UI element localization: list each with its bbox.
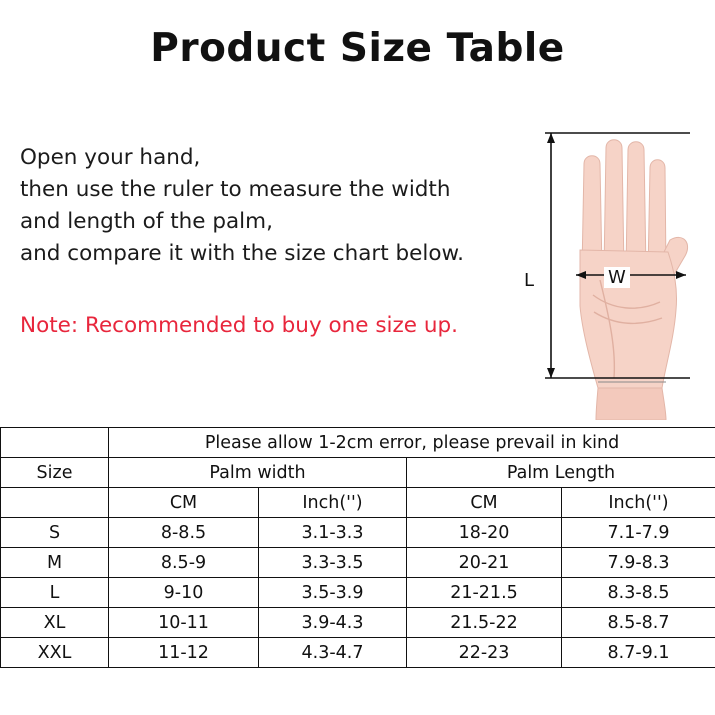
cell-width-cm: 8.5-9 bbox=[109, 548, 259, 578]
cell-length-inch: 8.5-8.7 bbox=[562, 608, 715, 638]
cell-size: S bbox=[1, 518, 109, 548]
unit-header-spacer bbox=[1, 488, 109, 518]
hand-measurement-diagram: W L bbox=[520, 120, 710, 420]
cell-length-cm: 21-21.5 bbox=[407, 578, 562, 608]
cell-length-cm: 21.5-22 bbox=[407, 608, 562, 638]
cell-length-cm: 18-20 bbox=[407, 518, 562, 548]
width-label: W bbox=[604, 267, 630, 288]
header-size: Size bbox=[1, 458, 109, 488]
cell-length-cm: 22-23 bbox=[407, 638, 562, 668]
cell-length-inch: 7.1-7.9 bbox=[562, 518, 715, 548]
cell-width-inch: 3.9-4.3 bbox=[259, 608, 407, 638]
cell-width-cm: 8-8.5 bbox=[109, 518, 259, 548]
cell-length-inch: 8.7-9.1 bbox=[562, 638, 715, 668]
cell-size: L bbox=[1, 578, 109, 608]
instruction-line-3: and length of the palm, bbox=[20, 206, 520, 238]
cell-size: XXL bbox=[1, 638, 109, 668]
note-text: Note: Recommended to buy one size up. bbox=[20, 313, 458, 338]
instructions-block: Open your hand, then use the ruler to me… bbox=[20, 142, 520, 270]
header-palm-length: Palm Length bbox=[407, 458, 715, 488]
length-label: L bbox=[520, 270, 538, 291]
cell-size: M bbox=[1, 548, 109, 578]
table-row: M 8.5-9 3.3-3.5 20-21 7.9-8.3 bbox=[1, 548, 715, 578]
header-length-cm: CM bbox=[407, 488, 562, 518]
cell-width-inch: 3.3-3.5 bbox=[259, 548, 407, 578]
cell-size: XL bbox=[1, 608, 109, 638]
table-banner-row: Please allow 1-2cm error, please prevail… bbox=[1, 428, 715, 458]
cell-width-cm: 10-11 bbox=[109, 608, 259, 638]
table-row: XXL 11-12 4.3-4.7 22-23 8.7-9.1 bbox=[1, 638, 715, 668]
cell-width-inch: 3.5-3.9 bbox=[259, 578, 407, 608]
page-title: Product Size Table bbox=[0, 26, 715, 71]
header-length-inch: Inch('') bbox=[562, 488, 715, 518]
size-chart-table: Please allow 1-2cm error, please prevail… bbox=[0, 427, 715, 668]
cell-length-inch: 8.3-8.5 bbox=[562, 578, 715, 608]
header-palm-width: Palm width bbox=[109, 458, 407, 488]
instruction-line-4: and compare it with the size chart below… bbox=[20, 238, 520, 270]
cell-width-cm: 11-12 bbox=[109, 638, 259, 668]
banner-spacer bbox=[1, 428, 109, 458]
table-group-header-row: Size Palm width Palm Length bbox=[1, 458, 715, 488]
cell-width-inch: 3.1-3.3 bbox=[259, 518, 407, 548]
table-unit-header-row: CM Inch('') CM Inch('') bbox=[1, 488, 715, 518]
product-size-table-page: Product Size Table Open your hand, then … bbox=[0, 0, 715, 715]
table-row: S 8-8.5 3.1-3.3 18-20 7.1-7.9 bbox=[1, 518, 715, 548]
instruction-line-2: then use the ruler to measure the width bbox=[20, 174, 520, 206]
cell-width-inch: 4.3-4.7 bbox=[259, 638, 407, 668]
table-row: XL 10-11 3.9-4.3 21.5-22 8.5-8.7 bbox=[1, 608, 715, 638]
table-banner: Please allow 1-2cm error, please prevail… bbox=[109, 428, 715, 458]
instruction-line-1: Open your hand, bbox=[20, 142, 520, 174]
cell-width-cm: 9-10 bbox=[109, 578, 259, 608]
header-width-cm: CM bbox=[109, 488, 259, 518]
header-width-inch: Inch('') bbox=[259, 488, 407, 518]
cell-length-inch: 7.9-8.3 bbox=[562, 548, 715, 578]
table-row: L 9-10 3.5-3.9 21-21.5 8.3-8.5 bbox=[1, 578, 715, 608]
cell-length-cm: 20-21 bbox=[407, 548, 562, 578]
